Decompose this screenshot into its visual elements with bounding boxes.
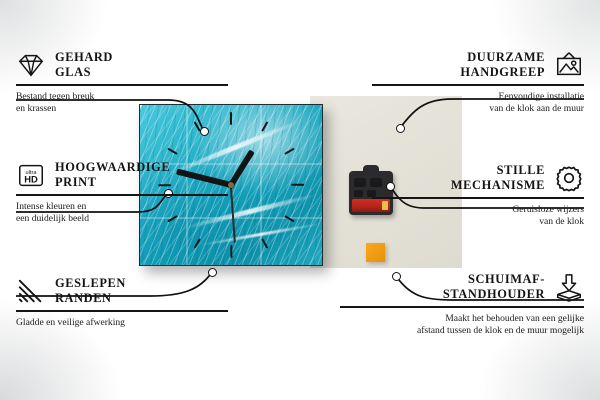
feature-desc-line1: Intense kleuren en — [16, 201, 228, 213]
svg-text:HD: HD — [24, 175, 38, 185]
feature-desc-line2: van de klok aan de muur — [372, 103, 584, 115]
feature-header: ultra HD HOOGWAARDIGE PRINT — [16, 160, 228, 190]
feature-title-line2: MECHANISME — [451, 178, 545, 193]
feature-gehard-glas: GEHARD GLAS Bestand tegen breuk en krass… — [16, 50, 228, 115]
feature-title-line2: GLAS — [55, 65, 113, 80]
feature-duurzame-handgreep: DUURZAME HANDGREEP Eenvoudige installati… — [372, 50, 584, 115]
feature-desc-line1: Geruisloze wijzers — [372, 204, 584, 216]
feature-title-line1: SCHUIMAF- — [443, 272, 545, 287]
bevelled-edges-icon — [16, 276, 46, 306]
feature-desc-line1: Maakt het behouden van een gelijke — [340, 313, 584, 325]
feature-description: Intense kleuren en een duidelijk beeld — [16, 201, 228, 226]
feature-title-line1: GESLEPEN — [55, 276, 126, 291]
feature-stille-mechanisme: STILLE MECHANISME Geruisloze wijzers van… — [372, 163, 584, 228]
feature-title: GEHARD GLAS — [55, 50, 113, 80]
feature-description: Eenvoudige installatie van de klok aan d… — [372, 91, 584, 116]
feature-title-line1: HOOGWAARDIGE — [55, 160, 170, 175]
feature-title: SCHUIMAF- STANDHOUDER — [443, 272, 545, 302]
connector-endpoint — [200, 127, 209, 136]
feature-divider — [372, 84, 584, 85]
press-pad-icon — [554, 272, 584, 302]
feature-header: GEHARD GLAS — [16, 50, 228, 80]
feature-hoogwaardige-print: ultra HD HOOGWAARDIGE PRINT Intense kleu… — [16, 160, 228, 225]
feature-desc-line1: Eenvoudige installatie — [372, 91, 584, 103]
ultra-hd-icon: ultra HD — [16, 160, 46, 190]
feature-title-line1: DUURZAME — [460, 50, 545, 65]
feature-description: Geruisloze wijzers van de klok — [372, 204, 584, 229]
feature-description: Maakt het behouden van een gelijke afsta… — [340, 313, 584, 338]
diamond-icon — [16, 50, 46, 80]
connector-endpoint — [396, 124, 405, 133]
feature-divider — [16, 194, 228, 195]
feature-title-line2: HANDGREEP — [460, 65, 545, 80]
feature-title-line1: GEHARD — [55, 50, 113, 65]
feature-title: STILLE MECHANISME — [451, 163, 545, 193]
feature-title-line1: STILLE — [451, 163, 545, 178]
feature-divider — [372, 197, 584, 198]
feature-title-line2: RANDEN — [55, 291, 126, 306]
feature-desc-line2: en krassen — [16, 103, 228, 115]
gear-icon — [554, 163, 584, 193]
feature-title: HOOGWAARDIGE PRINT — [55, 160, 170, 190]
feature-desc-line1: Gladde en veilige afwerking — [16, 317, 228, 329]
feature-schuimaf-standhouder: SCHUIMAF- STANDHOUDER Maakt het behouden… — [340, 272, 584, 337]
feature-description: Bestand tegen breuk en krassen — [16, 91, 228, 116]
feature-desc-line1: Bestand tegen breuk — [16, 91, 228, 103]
picture-frame-icon — [554, 50, 584, 80]
feature-title-line2: PRINT — [55, 175, 170, 190]
infographic-canvas: GEHARD GLAS Bestand tegen breuk en krass… — [0, 0, 600, 400]
feature-desc-line2: een duidelijk beeld — [16, 213, 228, 225]
feature-geslepen-randen: GESLEPEN RANDEN Gladde en veilige afwerk… — [16, 276, 228, 329]
feature-description: Gladde en veilige afwerking — [16, 317, 228, 329]
feature-desc-line2: van de klok — [372, 216, 584, 228]
feature-divider — [16, 84, 228, 85]
feature-desc-line2: afstand tussen de klok en de muur mogeli… — [340, 325, 584, 337]
feature-title: DUURZAME HANDGREEP — [460, 50, 545, 80]
feature-header: GESLEPEN RANDEN — [16, 276, 228, 306]
feature-header: DUURZAME HANDGREEP — [372, 50, 584, 80]
feature-header: STILLE MECHANISME — [372, 163, 584, 193]
feature-divider — [340, 306, 584, 307]
feature-header: SCHUIMAF- STANDHOUDER — [340, 272, 584, 302]
feature-title: GESLEPEN RANDEN — [55, 276, 126, 306]
feature-title-line2: STANDHOUDER — [443, 287, 545, 302]
feature-divider — [16, 310, 228, 311]
